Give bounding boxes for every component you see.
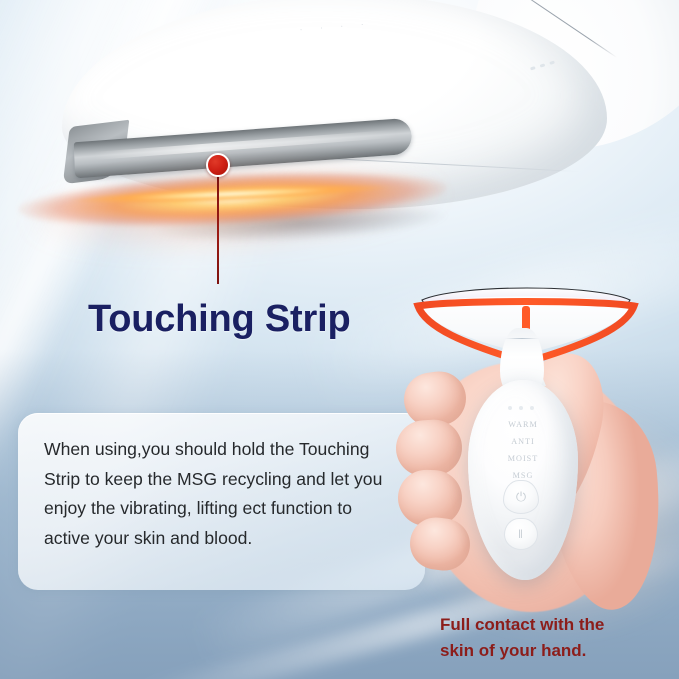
faint-mark: ∙ xyxy=(341,23,344,30)
device-indicator-lights xyxy=(508,406,534,410)
bottom-caption: Full contact with the skin of your hand. xyxy=(440,612,672,664)
device-mode-labels: WARM ANTI MOIST MSG xyxy=(480,416,566,484)
instruction-card: When using,you should hold the Touching … xyxy=(18,413,425,590)
mode-button[interactable]: ‖ xyxy=(504,518,538,550)
mode-label-anti: ANTI xyxy=(480,433,566,450)
mode-label-moist: MOIST xyxy=(480,450,566,467)
pointer-line xyxy=(217,174,219,284)
instruction-text: When using,you should hold the Touching … xyxy=(44,435,401,553)
device-neck-line xyxy=(504,338,540,339)
mode-label-warm: WARM xyxy=(480,416,566,433)
product-feature-image: ∙ ∙ ∙ ∙ Touching Strip When using,you sh… xyxy=(0,0,679,679)
faint-mark: ∙ xyxy=(300,27,303,34)
mode-icon: ‖ xyxy=(518,527,524,541)
device-closeup: ∙ ∙ ∙ ∙ xyxy=(0,0,679,252)
caption-line-1: Full contact with the xyxy=(440,612,672,638)
faint-mark: ∙ xyxy=(320,25,323,32)
red-marker-dot xyxy=(206,153,230,177)
faint-mark: ∙ xyxy=(361,21,364,28)
power-icon: ⏻ xyxy=(516,489,526,505)
caption-line-2: skin of your hand. xyxy=(440,638,672,664)
power-button[interactable]: ⏻ xyxy=(503,480,539,514)
page-title: Touching Strip xyxy=(88,298,350,341)
